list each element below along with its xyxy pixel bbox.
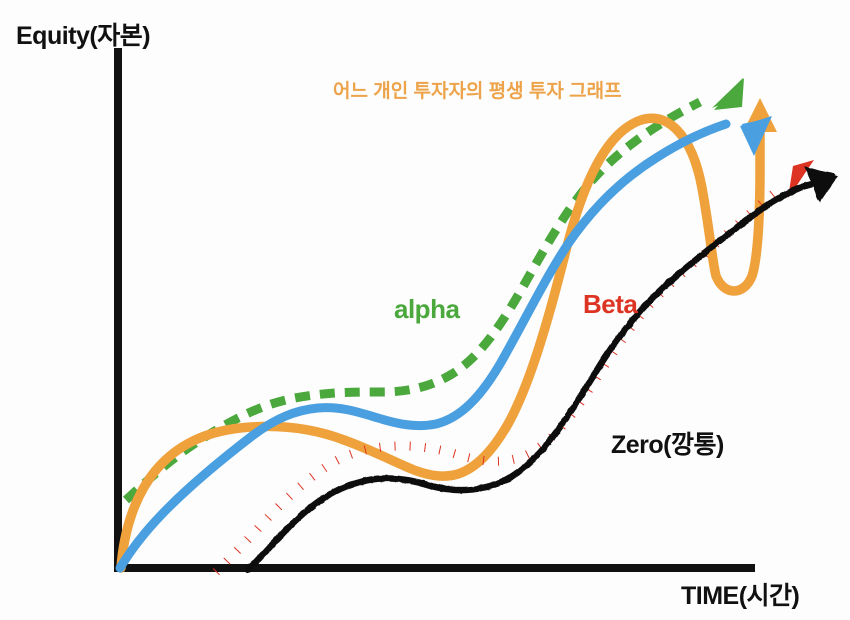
series-zero <box>248 166 838 570</box>
series-label-beta: Beta <box>583 289 637 320</box>
axis-label-y: Equity(자본) <box>16 16 150 52</box>
blue-curve <box>120 124 726 568</box>
chart-title: 어느 개인 투자자의 평생 투자 그래프 <box>333 76 622 103</box>
series-orange-trader <box>121 98 777 568</box>
blue-arrowhead-tip <box>740 116 772 156</box>
axis-label-x: TIME(시간) <box>681 576 799 612</box>
series-label-alpha: alpha <box>394 294 459 325</box>
series-label-zero: Zero(깡통) <box>611 425 724 461</box>
series-blue-market <box>120 116 772 568</box>
orange-curve <box>121 118 760 568</box>
investment-chart: Equity(자본) TIME(시간) 어느 개인 투자자의 평생 투자 그래프… <box>0 0 850 620</box>
